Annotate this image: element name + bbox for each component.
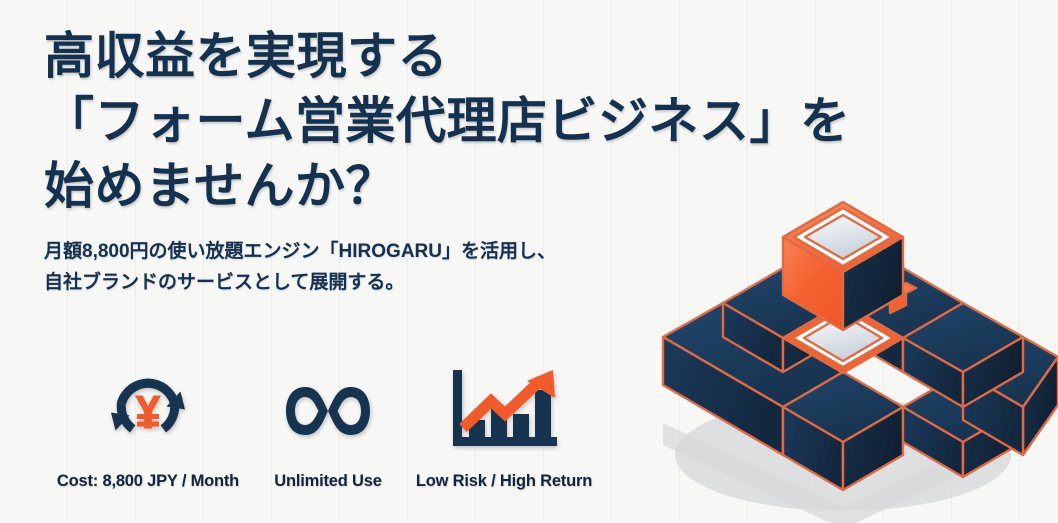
copy-block: 高収益を実現する 「フォーム営業代理店ビジネス」を 始めませんか？ 月額8,80… [44,24,684,299]
subheadline: 月額8,800円の使い放題エンジン「HIROGARU」を活用し、 自社ブランドの… [44,237,684,299]
feature-list: Cost: 8,800 JPY / Month Unlimited Use [44,368,604,491]
hero-banner: 高収益を実現する 「フォーム営業代理店ビジネス」を 始めませんか？ 月額8,80… [0,0,1058,523]
feature-label-cost: Cost: 8,800 JPY / Month [57,472,239,491]
feature-label-unlimited: Unlimited Use [274,472,381,491]
headline-line-1: 高収益を実現する [44,24,684,89]
growth-chart-icon [445,368,563,454]
feature-item-return: Low Risk / High Return [404,368,604,491]
isometric-block-stack [638,155,1058,523]
headline-line-2: 「フォーム営業代理店ビジネス」を [44,89,684,154]
yen-recycle-icon [106,368,190,454]
feature-item-cost: Cost: 8,800 JPY / Month [44,368,252,491]
subheadline-line-1: 月額8,800円の使い放題エンジン「HIROGARU」を活用し、 [44,237,684,268]
headline-line-3: 始めませんか？ [44,154,684,219]
infinity-icon [280,368,376,454]
feature-item-unlimited: Unlimited Use [252,368,404,491]
page-title: 高収益を実現する 「フォーム営業代理店ビジネス」を 始めませんか？ [44,24,684,219]
feature-label-return: Low Risk / High Return [416,472,592,491]
subheadline-line-2: 自社ブランドのサービスとして展開する。 [44,268,684,299]
